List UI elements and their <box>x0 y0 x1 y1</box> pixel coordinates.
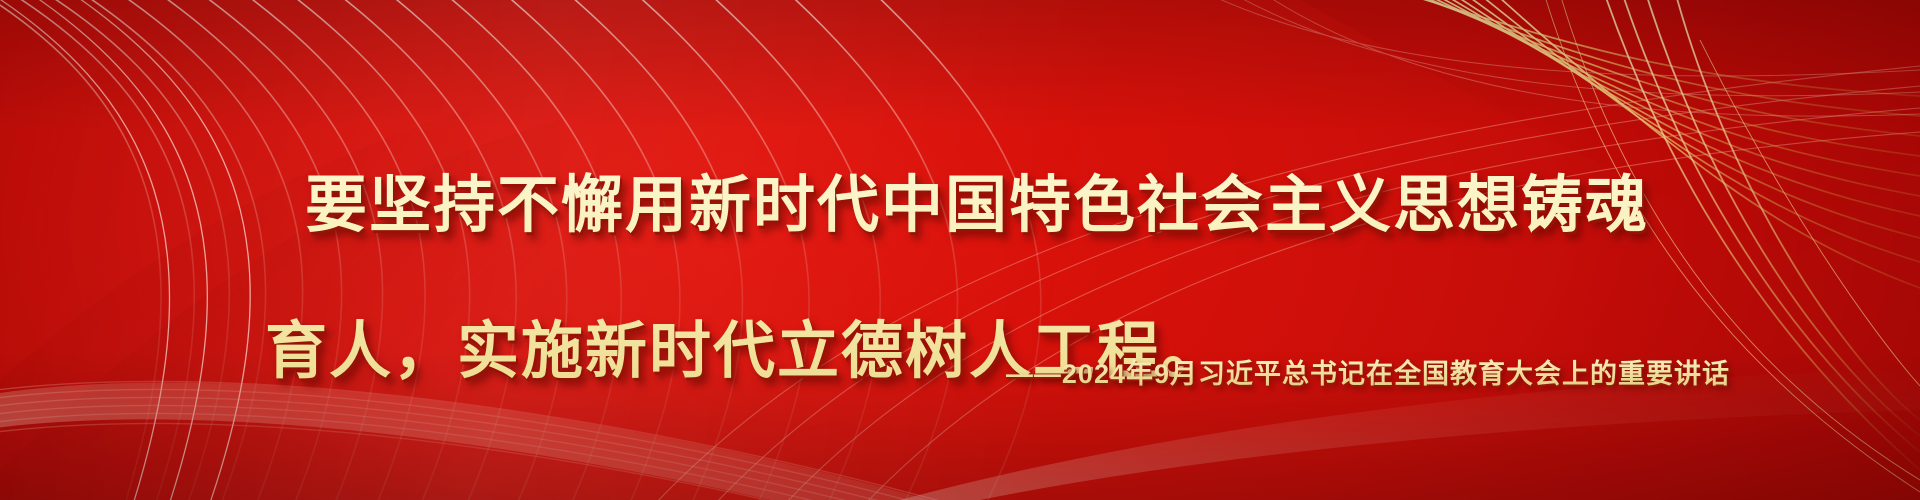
propaganda-banner: 要坚持不懈用新时代中国特色社会主义思想铸魂 育人，实施新时代立德树人工程。 ——… <box>0 0 1920 500</box>
attribution-text: ——2024年9月习近平总书记在全国教育大会上的重要讲话 <box>1006 352 1730 391</box>
banner-content: 要坚持不懈用新时代中国特色社会主义思想铸魂 育人，实施新时代立德树人工程。 ——… <box>0 0 1920 500</box>
headline-text: 要坚持不懈用新时代中国特色社会主义思想铸魂 育人，实施新时代立德树人工程。 <box>0 96 1920 462</box>
headline-line-1: 要坚持不懈用新时代中国特色社会主义思想铸魂 <box>0 169 1920 242</box>
